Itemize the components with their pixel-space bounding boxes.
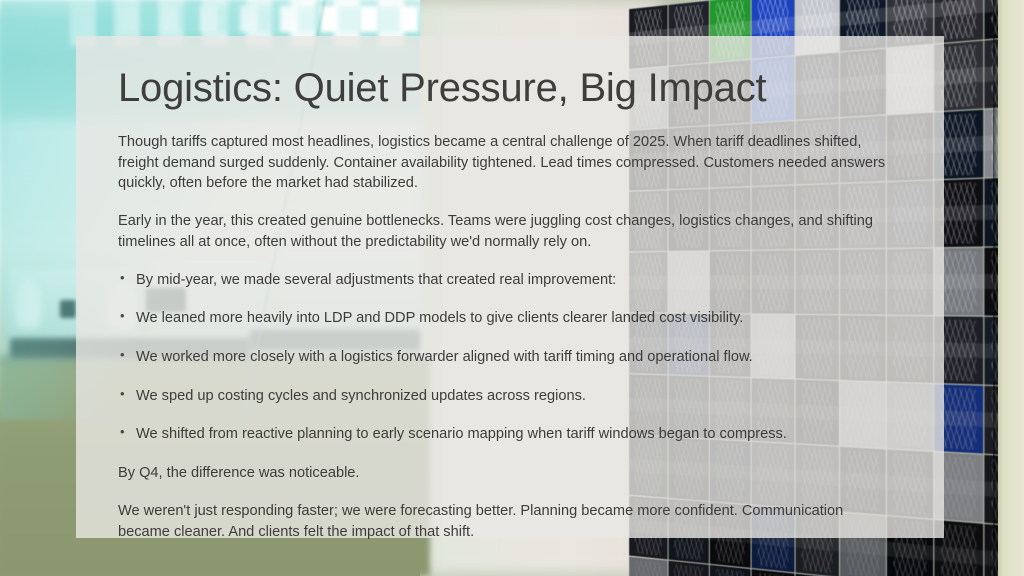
list-item: By mid-year, we made several adjustments… <box>118 270 902 291</box>
list-item: We sped up costing cycles and synchroniz… <box>118 386 902 407</box>
background-right-wall-strip <box>998 0 1024 576</box>
slide-body: Though tariffs captured most headlines, … <box>118 132 902 542</box>
paragraph-bottlenecks: Early in the year, this created genuine … <box>118 211 888 252</box>
list-item: We leaned more heavily into LDP and DDP … <box>118 308 902 329</box>
list-item: We shifted from reactive planning to ear… <box>118 424 902 445</box>
paragraph-q4: By Q4, the difference was noticeable. <box>118 463 888 484</box>
content-panel: Logistics: Quiet Pressure, Big Impact Th… <box>76 36 944 538</box>
presentation-slide: Logistics: Quiet Pressure, Big Impact Th… <box>0 0 1024 576</box>
spool <box>629 557 668 576</box>
page-title: Logistics: Quiet Pressure, Big Impact <box>118 66 902 110</box>
bullet-list: By mid-year, we made several adjustments… <box>118 270 902 446</box>
paragraph-closing: We weren't just responding faster; we we… <box>118 501 888 542</box>
list-item: We worked more closely with a logistics … <box>118 347 902 368</box>
paragraph-intro: Though tariffs captured most headlines, … <box>118 132 888 194</box>
